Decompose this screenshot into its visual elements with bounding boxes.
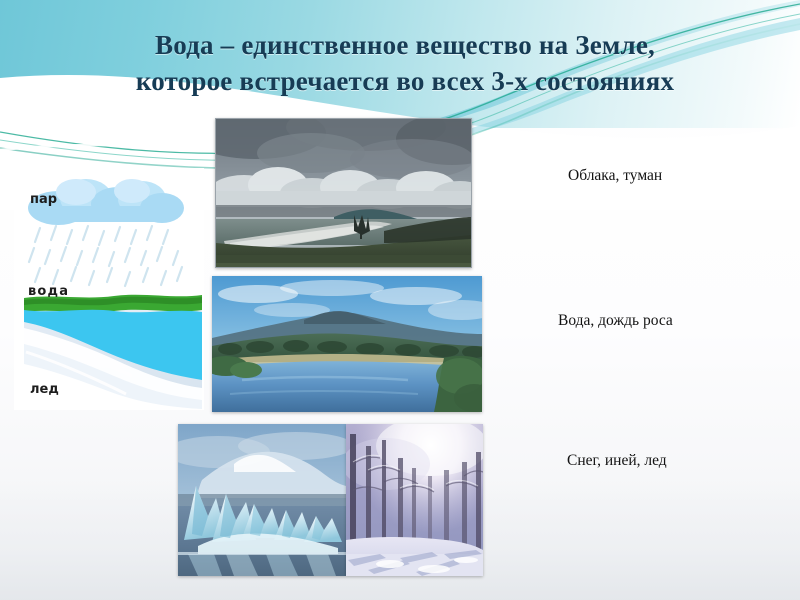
diagram-label-ice: лед <box>30 382 59 397</box>
snowy-forest-image <box>346 424 483 576</box>
caption-solid: Снег, иней, лед <box>567 452 667 470</box>
storm-clouds-image <box>216 119 471 267</box>
photo-icebergs-in-lagoon <box>178 424 346 576</box>
photo-storm-clouds-over-bay <box>215 118 472 268</box>
photo-snowy-winter-forest <box>346 424 483 576</box>
states-of-water-diagram: пар вода лед <box>14 168 204 410</box>
icebergs-image <box>178 424 346 576</box>
diagram-label-water: вода <box>28 284 69 299</box>
caption-liquid: Вода, дождь роса <box>558 312 673 330</box>
river-image <box>212 276 482 412</box>
slide: Вода – единственное вещество на Земле, к… <box>0 0 800 600</box>
diagram-label-vapor: пар <box>30 192 57 207</box>
title-line-2: которое встречается во всех 3-х состояни… <box>60 64 750 100</box>
title-line-1: Вода – единственное вещество на Земле, <box>60 28 750 64</box>
page-title: Вода – единственное вещество на Земле, к… <box>60 28 750 99</box>
caption-vapor: Облака, туман <box>568 167 662 185</box>
photo-river-with-hills <box>212 276 482 412</box>
